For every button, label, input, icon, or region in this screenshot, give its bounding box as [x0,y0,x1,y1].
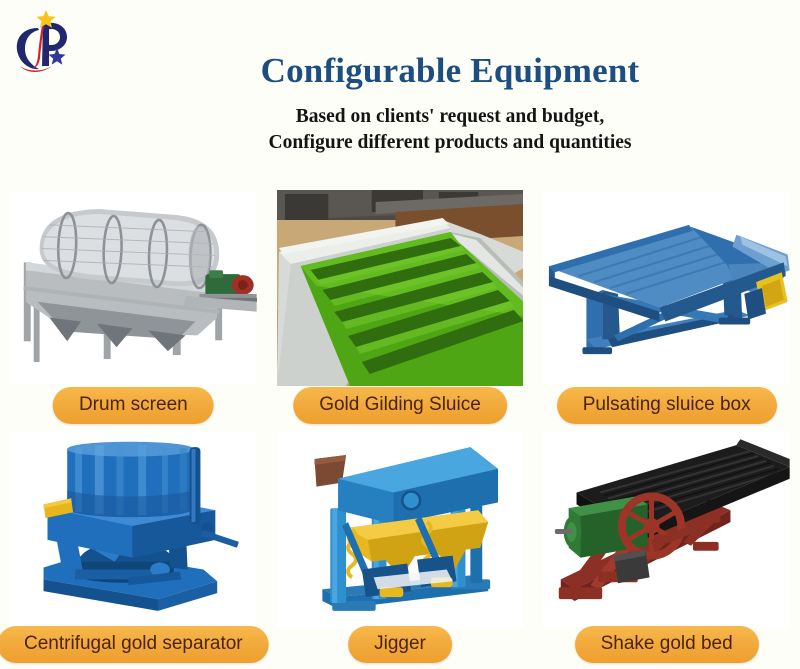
product-label-shake-gold-bed[interactable]: Shake gold bed [575,626,759,663]
product-label-centrifugal-gold-separator[interactable]: Centrifugal gold separator [0,626,269,663]
centrifugal-gold-separator-photo [10,430,257,630]
product-card-gold-gilding-sluice[interactable]: Gold Gilding Sluice [267,190,534,430]
subtitle-line-2: Configure different products and quantit… [110,130,790,157]
product-card-jigger[interactable]: Jigger [267,430,534,669]
header-block: Configurable Equipment Based on clients'… [110,52,790,157]
product-card-shake-gold-bed[interactable]: Shake gold bed [533,430,800,669]
page-title: Configurable Equipment [110,52,790,91]
subtitle-line-1: Based on clients' request and budget, [110,104,790,131]
product-label-pulsating-sluice-box[interactable]: Pulsating sluice box [557,387,777,424]
product-grid: Drum screen [0,190,800,669]
product-card-centrifugal-gold-separator[interactable]: Centrifugal gold separator [0,430,267,669]
product-card-pulsating-sluice-box[interactable]: Pulsating sluice box [533,190,800,430]
logo-navy-arc [17,28,39,69]
pulsating-sluice-box-photo [543,190,790,386]
company-logo [10,8,72,76]
product-label-jigger[interactable]: Jigger [348,626,452,663]
drum-screen-photo [10,190,257,386]
gold-gilding-sluice-photo [277,190,524,386]
subtitle-block: Based on clients' request and budget, Co… [110,104,790,158]
jigger-photo [277,430,524,630]
product-card-drum-screen[interactable]: Drum screen [0,190,267,430]
product-label-drum-screen[interactable]: Drum screen [53,387,214,424]
shake-gold-bed-photo [543,430,790,630]
product-label-gold-gilding-sluice[interactable]: Gold Gilding Sluice [293,387,507,424]
